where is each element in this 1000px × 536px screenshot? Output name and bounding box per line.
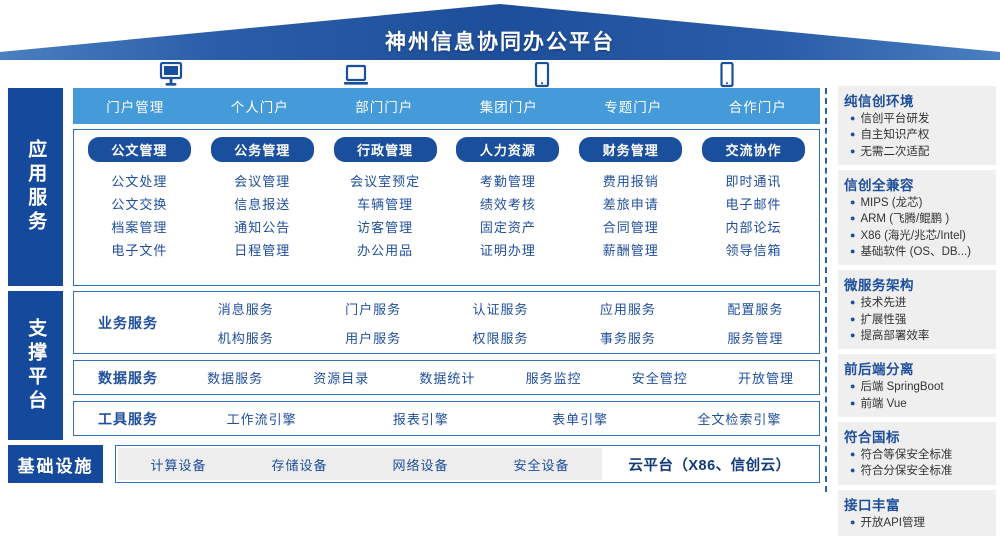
service-item[interactable]: 服务监控 bbox=[501, 368, 607, 387]
feature-item-text: 无需二次适配 bbox=[860, 144, 990, 160]
feature-item: ● 自主知识产权 bbox=[844, 127, 990, 143]
data-service-line: 数据服务 资源目录 数据统计 服务监控 安全管控 开放管理 bbox=[182, 368, 819, 387]
feature-item: ● 后端 SpringBoot bbox=[844, 379, 990, 395]
portal-item-4[interactable]: 专题门户 bbox=[571, 96, 696, 116]
service-item[interactable]: 机构服务 bbox=[182, 328, 309, 347]
module-item[interactable]: 绩效考核 bbox=[480, 198, 536, 212]
service-item[interactable]: 应用服务 bbox=[564, 299, 691, 318]
infrastructure-label: 基础设施 bbox=[8, 445, 103, 483]
feature-item-text: X86 (海光/兆芯/Intel) bbox=[860, 228, 990, 244]
feature-item: ● 符合等保安全标准 bbox=[844, 447, 990, 463]
bullet-icon: ● bbox=[850, 447, 855, 463]
bullet-icon: ● bbox=[850, 312, 855, 328]
module-item[interactable]: 费用报销 bbox=[603, 175, 659, 189]
feature-item-text: MIPS (龙芯) bbox=[860, 195, 990, 211]
section-divider bbox=[825, 88, 827, 492]
module-item[interactable]: 车辆管理 bbox=[357, 198, 413, 212]
feature-item: ● 符合分保安全标准 bbox=[844, 463, 990, 479]
desktop-monitor-icon bbox=[78, 60, 264, 88]
data-service-row: 数据服务 数据服务 资源目录 数据统计 服务监控 安全管控 开放管理 bbox=[73, 360, 820, 395]
bullet-icon: ● bbox=[850, 328, 855, 344]
feature-card-1: 信创全兼容 ● MIPS (龙芯) ● ARM (飞腾/鲲鹏 ) ● X86 (… bbox=[838, 170, 996, 265]
feature-item: ● 无需二次适配 bbox=[844, 144, 990, 160]
smartphone-icon bbox=[635, 60, 821, 88]
feature-heading: 前后端分离 bbox=[844, 358, 990, 378]
feature-heading: 纯信创环境 bbox=[844, 90, 990, 110]
service-item[interactable]: 报表引擎 bbox=[341, 409, 500, 428]
feature-item: ● 基础软件 (OS、DB...) bbox=[844, 244, 990, 260]
feature-item-text: 后端 SpringBoot bbox=[860, 379, 990, 395]
module-header[interactable]: 公务管理 bbox=[211, 137, 314, 162]
business-service-line-1: 消息服务 门户服务 认证服务 应用服务 配置服务 bbox=[182, 299, 819, 318]
tablet-icon bbox=[449, 60, 635, 88]
bullet-icon: ● bbox=[850, 144, 855, 160]
module-item[interactable]: 日程管理 bbox=[234, 244, 290, 258]
bullet-icon: ● bbox=[850, 211, 855, 227]
feature-item-text: 技术先进 bbox=[860, 295, 990, 311]
service-item[interactable]: 门户服务 bbox=[309, 299, 436, 318]
module-item[interactable]: 证明办理 bbox=[480, 244, 536, 258]
application-layer-label-text: 应用服务 bbox=[22, 139, 50, 235]
laptop-icon bbox=[264, 60, 450, 88]
feature-card-2: 微服务架构 ● 技术先进 ● 扩展性强 ● 提高部署效率 bbox=[838, 270, 996, 349]
service-item[interactable]: 资源目录 bbox=[288, 368, 394, 387]
feature-item-text: 扩展性强 bbox=[860, 312, 990, 328]
bullet-icon: ● bbox=[850, 111, 855, 127]
module-item[interactable]: 办公用品 bbox=[357, 244, 413, 258]
service-item[interactable]: 表单引擎 bbox=[501, 409, 660, 428]
data-service-title: 数据服务 bbox=[74, 368, 182, 388]
service-item[interactable]: 全文检索引擎 bbox=[660, 409, 819, 428]
feature-item-text: ARM (飞腾/鲲鹏 ) bbox=[860, 211, 990, 227]
support-layer: 支撑平台 业务服务 消息服务 门户服务 认证服务 应用服务 配置服务 bbox=[8, 291, 820, 440]
feature-card-3: 前后端分离 ● 后端 SpringBoot ● 前端 Vue bbox=[838, 354, 996, 417]
portal-item-0[interactable]: 门户管理 bbox=[73, 96, 198, 116]
feature-item-text: 符合分保安全标准 bbox=[860, 463, 990, 479]
service-item[interactable]: 服务管理 bbox=[692, 328, 819, 347]
bullet-icon: ● bbox=[850, 379, 855, 395]
business-service-title: 业务服务 bbox=[74, 313, 182, 333]
feature-card-0: 纯信创环境 ● 信创平台研发 ● 自主知识产权 ● 无需二次适配 bbox=[838, 86, 996, 165]
service-item[interactable]: 配置服务 bbox=[692, 299, 819, 318]
module-item[interactable]: 访客管理 bbox=[357, 221, 413, 235]
feature-item: ● MIPS (龙芯) bbox=[844, 195, 990, 211]
module-item[interactable]: 电子邮件 bbox=[726, 198, 782, 212]
support-layer-label-text: 支撑平台 bbox=[22, 318, 50, 414]
feature-item: ● 技术先进 bbox=[844, 295, 990, 311]
infrastructure-item[interactable]: 安全设备 bbox=[481, 455, 602, 474]
feature-item-text: 符合等保安全标准 bbox=[860, 447, 990, 463]
module-item[interactable]: 信息报送 bbox=[234, 198, 290, 212]
tool-service-row: 工具服务 工作流引擎 报表引擎 表单引擎 全文检索引擎 bbox=[73, 401, 820, 436]
tool-service-title: 工具服务 bbox=[74, 409, 182, 429]
bullet-icon: ● bbox=[850, 244, 855, 260]
feature-card-5: 接口丰富 ● 开放API管理 bbox=[838, 490, 996, 536]
feature-item-text: 基础软件 (OS、DB...) bbox=[860, 244, 990, 260]
bullet-icon: ● bbox=[850, 295, 855, 311]
module-item[interactable]: 内部论坛 bbox=[726, 221, 782, 235]
page-title: 神州信息协同办公平台 bbox=[0, 26, 1000, 56]
feature-heading: 符合国标 bbox=[844, 426, 990, 446]
portal-item-1[interactable]: 个人门户 bbox=[198, 96, 323, 116]
title-banner: 神州信息协同办公平台 bbox=[0, 4, 1000, 60]
service-item[interactable]: 用户服务 bbox=[309, 328, 436, 347]
module-column: 财务管理 费用报销 差旅申请 合同管理 薪酬管理 bbox=[569, 137, 692, 281]
module-item[interactable]: 会议室预定 bbox=[350, 175, 420, 189]
module-header[interactable]: 交流协作 bbox=[702, 137, 805, 162]
portal-item-2[interactable]: 部门门户 bbox=[322, 96, 447, 116]
module-item[interactable]: 电子文件 bbox=[111, 244, 167, 258]
module-column: 行政管理 会议室预定 车辆管理 访客管理 办公用品 bbox=[324, 137, 447, 281]
feature-card-4: 符合国标 ● 符合等保安全标准 ● 符合分保安全标准 bbox=[838, 422, 996, 485]
infrastructure-item[interactable]: 存储设备 bbox=[239, 455, 360, 474]
module-item[interactable]: 通知公告 bbox=[234, 221, 290, 235]
feature-item: ● 前端 Vue bbox=[844, 396, 990, 412]
support-layer-label: 支撑平台 bbox=[8, 291, 63, 440]
module-header[interactable]: 公文管理 bbox=[88, 137, 191, 162]
feature-item: ● ARM (飞腾/鲲鹏 ) bbox=[844, 211, 990, 227]
bullet-icon: ● bbox=[850, 195, 855, 211]
portal-item-5[interactable]: 合作门户 bbox=[696, 96, 821, 116]
module-column: 公务管理 会议管理 信息报送 通知公告 日程管理 bbox=[201, 137, 324, 281]
service-item[interactable]: 认证服务 bbox=[437, 299, 564, 318]
bullet-icon: ● bbox=[850, 396, 855, 412]
module-item[interactable]: 固定资产 bbox=[480, 221, 536, 235]
module-item[interactable]: 档案管理 bbox=[111, 221, 167, 235]
portal-item-3[interactable]: 集团门户 bbox=[447, 96, 572, 116]
module-column: 公文管理 公文处理 公文交换 档案管理 电子文件 bbox=[78, 137, 201, 281]
module-header[interactable]: 财务管理 bbox=[579, 137, 682, 162]
module-item[interactable]: 考勤管理 bbox=[480, 175, 536, 189]
infrastructure-item[interactable]: 网络设备 bbox=[360, 455, 481, 474]
tool-service-line: 工作流引擎 报表引擎 表单引擎 全文检索引擎 bbox=[182, 409, 819, 428]
feature-item: ● X86 (海光/兆芯/Intel) bbox=[844, 228, 990, 244]
infrastructure-device-group: 计算设备 存储设备 网络设备 安全设备 bbox=[118, 448, 602, 480]
module-item[interactable]: 即时通讯 bbox=[726, 175, 782, 189]
service-item[interactable]: 消息服务 bbox=[182, 299, 309, 318]
feature-item-text: 自主知识产权 bbox=[860, 127, 990, 143]
module-item[interactable]: 合同管理 bbox=[603, 221, 659, 235]
business-service-line-2: 机构服务 用户服务 权限服务 事务服务 服务管理 bbox=[182, 328, 819, 347]
feature-heading: 接口丰富 bbox=[844, 494, 990, 514]
feature-item-text: 信创平台研发 bbox=[860, 111, 990, 127]
application-layer: 应用服务 门户管理 个人门户 部门门户 集团门户 专题门户 合作门户 公文管理 … bbox=[8, 88, 820, 286]
module-item[interactable]: 公文交换 bbox=[111, 198, 167, 212]
service-item[interactable]: 工作流引擎 bbox=[182, 409, 341, 428]
infrastructure-item[interactable]: 计算设备 bbox=[118, 455, 239, 474]
module-column: 交流协作 即时通讯 电子邮件 内部论坛 领导信箱 bbox=[692, 137, 815, 281]
module-column: 人力资源 考勤管理 绩效考核 固定资产 证明办理 bbox=[446, 137, 569, 281]
feature-item-text: 提高部署效率 bbox=[860, 328, 990, 344]
service-item[interactable]: 数据统计 bbox=[394, 368, 500, 387]
bullet-icon: ● bbox=[850, 127, 855, 143]
service-item[interactable]: 事务服务 bbox=[564, 328, 691, 347]
feature-heading: 微服务架构 bbox=[844, 274, 990, 294]
module-header[interactable]: 人力资源 bbox=[456, 137, 559, 162]
feature-item: ● 提高部署效率 bbox=[844, 328, 990, 344]
feature-item-text: 前端 Vue bbox=[860, 396, 990, 412]
module-item[interactable]: 差旅申请 bbox=[603, 198, 659, 212]
feature-item: ● 信创平台研发 bbox=[844, 111, 990, 127]
features-sidebar: 纯信创环境 ● 信创平台研发 ● 自主知识产权 ● 无需二次适配 信创全兼容 ●… bbox=[838, 86, 996, 496]
bullet-icon: ● bbox=[850, 228, 855, 244]
feature-item-text: 开放API管理 bbox=[860, 515, 990, 531]
feature-item: ● 开放API管理 bbox=[844, 515, 990, 531]
service-item[interactable]: 权限服务 bbox=[437, 328, 564, 347]
module-item[interactable]: 会议管理 bbox=[234, 175, 290, 189]
cloud-platform-item[interactable]: 云平台（X86、信创云） bbox=[602, 454, 817, 475]
feature-item: ● 扩展性强 bbox=[844, 312, 990, 328]
architecture-diagram: 神州信息协同办公平台 bbox=[0, 0, 1000, 500]
feature-heading: 信创全兼容 bbox=[844, 174, 990, 194]
diagram-body: 应用服务 门户管理 个人门户 部门门户 集团门户 专题门户 合作门户 公文管理 … bbox=[8, 88, 820, 492]
service-item[interactable]: 安全管控 bbox=[607, 368, 713, 387]
application-layer-label: 应用服务 bbox=[8, 88, 63, 286]
bullet-icon: ● bbox=[850, 463, 855, 479]
module-item[interactable]: 薪酬管理 bbox=[603, 244, 659, 258]
module-item[interactable]: 公文处理 bbox=[111, 175, 167, 189]
application-modules-panel: 公文管理 公文处理 公文交换 档案管理 电子文件 公务管理 会议管理 信息报送 … bbox=[73, 129, 820, 286]
business-service-row: 业务服务 消息服务 门户服务 认证服务 应用服务 配置服务 机构服务 用户服务 bbox=[73, 291, 820, 354]
infrastructure-box: 计算设备 存储设备 网络设备 安全设备 云平台（X86、信创云） bbox=[115, 445, 820, 483]
module-header[interactable]: 行政管理 bbox=[334, 137, 437, 162]
service-item[interactable]: 开放管理 bbox=[713, 368, 819, 387]
device-icon-row bbox=[78, 60, 820, 88]
infrastructure-layer: 基础设施 计算设备 存储设备 网络设备 安全设备 云平台（X86、信创云） bbox=[8, 445, 820, 489]
bullet-icon: ● bbox=[850, 515, 855, 531]
module-item[interactable]: 领导信箱 bbox=[726, 244, 782, 258]
portal-bar: 门户管理 个人门户 部门门户 集团门户 专题门户 合作门户 bbox=[73, 88, 820, 124]
service-item[interactable]: 数据服务 bbox=[182, 368, 288, 387]
